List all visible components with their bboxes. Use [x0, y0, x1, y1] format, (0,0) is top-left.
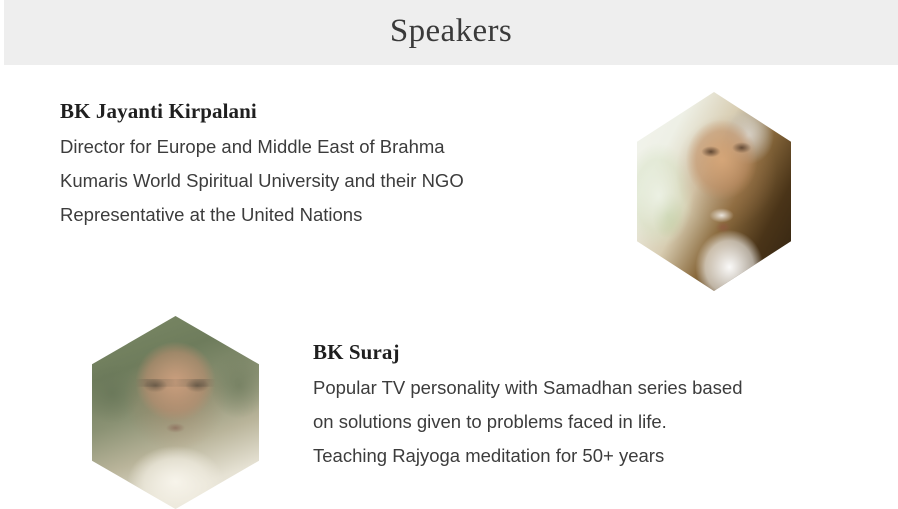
speaker-photo-jayanti [637, 92, 791, 291]
portrait-image [637, 92, 791, 291]
speaker-text-suraj: BK Suraj Popular TV personality with Sam… [313, 340, 873, 473]
speaker-text-jayanti: BK Jayanti Kirpalani Director for Europe… [60, 99, 620, 232]
speaker-bio-line: Teaching Rajyoga meditation for 50+ year… [313, 439, 873, 473]
speaker-photo-suraj [92, 316, 259, 509]
speakers-page: { "header": { "title": "Speakers", "back… [0, 0, 898, 509]
speaker-bio: Popular TV personality with Samadhan ser… [313, 371, 873, 473]
portrait-image [92, 316, 259, 509]
page-header: Speakers [4, 0, 898, 65]
speaker-bio: Director for Europe and Middle East of B… [60, 130, 620, 232]
speaker-bio-line: on solutions given to problems faced in … [313, 405, 873, 439]
speaker-bio-line: Popular TV personality with Samadhan ser… [313, 371, 873, 405]
speaker-bio-line: Representative at the United Nations [60, 198, 620, 232]
speaker-name: BK Suraj [313, 340, 873, 364]
speaker-bio-line: Kumaris World Spiritual University and t… [60, 164, 620, 198]
speaker-name: BK Jayanti Kirpalani [60, 99, 620, 123]
speaker-bio-line: Director for Europe and Middle East of B… [60, 130, 620, 164]
page-title: Speakers [390, 15, 512, 50]
